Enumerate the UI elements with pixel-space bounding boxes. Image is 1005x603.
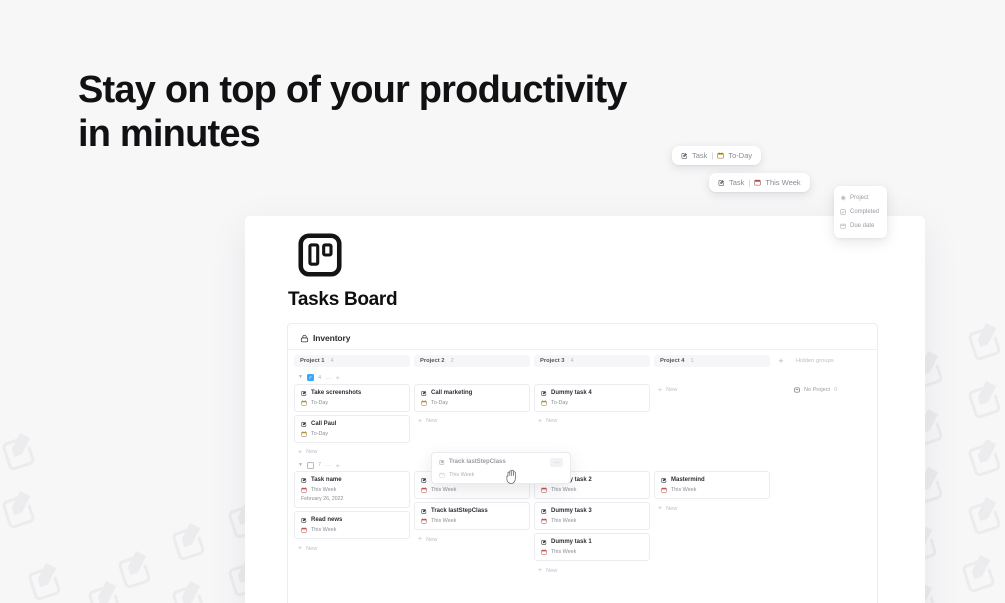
task-card-title: Read news <box>311 517 342 523</box>
task-card-due-label: This Week <box>551 549 576 555</box>
task-card-title: Dummy task 3 <box>551 508 592 514</box>
group-add-button[interactable]: + <box>336 462 340 470</box>
add-card-label: New <box>546 568 557 574</box>
column-header-project-1[interactable]: Project 1 4 <box>294 355 410 367</box>
task-card-due-label: To-Day <box>431 400 448 406</box>
task-card-title: Dummy task 1 <box>551 539 592 545</box>
task-icon <box>541 390 547 396</box>
task-icon <box>541 508 547 514</box>
collapse-triangle-icon[interactable]: ▼ <box>298 375 303 380</box>
task-card-meta: This Week <box>661 487 763 493</box>
task-card-meta: To-Day <box>421 400 523 406</box>
rail-item-no-project[interactable]: No Project0 <box>778 384 871 393</box>
task-card-title: Call Paul <box>311 421 336 427</box>
dragged-card-meta: This Week <box>449 472 474 478</box>
task-edit-icon <box>681 152 688 159</box>
calendar-week-icon <box>301 527 307 533</box>
group-row[interactable]: ▼✓4...+ <box>288 371 877 384</box>
add-card-button[interactable]: +New <box>534 415 650 428</box>
add-column-button[interactable]: + <box>774 357 788 366</box>
column-name: Project 1 <box>300 358 325 364</box>
task-card[interactable]: Call PaulTo-Day <box>294 415 410 443</box>
task-card-due-label: To-Day <box>311 400 328 406</box>
column-count: 2 <box>451 358 454 364</box>
task-icon <box>541 539 547 545</box>
task-card-title-row: Take screenshots <box>301 390 403 396</box>
task-card-due-label: This Week <box>431 487 456 493</box>
plus-icon: + <box>298 545 302 552</box>
column-header-project-3[interactable]: Project 3 4 <box>534 355 650 367</box>
column-name: Project 3 <box>540 358 565 364</box>
task-card[interactable]: Track lastStepClassThis Week <box>414 502 530 530</box>
column-name: Project 4 <box>660 358 685 364</box>
watermark-note-icon <box>960 431 1005 485</box>
task-card-date: February 26, 2022 <box>301 496 403 502</box>
calendar-week-icon <box>661 487 667 493</box>
calendar-today-icon <box>301 400 307 406</box>
task-card[interactable]: Call marketingTo-Day <box>414 384 530 412</box>
watermark-note-icon <box>20 555 72 603</box>
gear-icon <box>840 195 846 201</box>
dragged-card-title: Track lastStepClass <box>449 459 506 465</box>
collapse-triangle-icon[interactable]: ▼ <box>298 463 303 468</box>
floating-chip-today[interactable]: Task | To-Day <box>672 146 761 165</box>
group-menu-button[interactable]: ... <box>325 462 332 468</box>
calendar-icon <box>840 223 846 229</box>
chip-label: Task <box>729 178 744 187</box>
add-card-button[interactable]: +New <box>534 564 650 577</box>
task-card-title-row: Task name <box>301 477 403 483</box>
filter-dropdown-menu[interactable]: Project Completed Due date <box>834 186 887 238</box>
board-column: Dummy task 4To-Day+New <box>534 384 650 428</box>
plus-icon: + <box>538 567 542 574</box>
calendar-week-icon <box>439 472 445 478</box>
task-card-title-row: Call marketing <box>421 390 523 396</box>
board-header: Inventory <box>288 324 877 350</box>
chip-separator: | <box>748 178 750 187</box>
task-card-title: Mastermind <box>671 477 705 483</box>
task-icon <box>439 459 445 465</box>
task-card-title-row: Track lastStepClass <box>421 508 523 514</box>
column-name: Project 2 <box>420 358 445 364</box>
menu-item-label: Due date <box>850 223 874 229</box>
column-count: 4 <box>331 358 334 364</box>
board-title: Tasks Board <box>288 289 397 311</box>
task-card-due-label: This Week <box>551 518 576 524</box>
watermark-note-icon <box>960 489 1005 543</box>
menu-item-project[interactable]: Project <box>834 191 887 205</box>
watermark-note-icon <box>80 573 132 603</box>
plus-icon: + <box>538 418 542 425</box>
task-icon <box>421 477 427 483</box>
task-card-due-label: This Week <box>311 527 336 533</box>
task-card-title: Dummy task 4 <box>551 390 592 396</box>
watermark-note-icon <box>164 515 216 569</box>
add-card-button[interactable]: +New <box>414 415 530 428</box>
task-card-meta: This Week <box>301 487 403 493</box>
plus-icon: + <box>418 418 422 425</box>
task-card[interactable]: Dummy task 3This Week <box>534 502 650 530</box>
task-card-due-label: This Week <box>671 487 696 493</box>
task-card-due-label: This Week <box>311 487 336 493</box>
board-header-label: Inventory <box>313 333 350 343</box>
watermark-note-icon <box>960 315 1005 369</box>
task-card-title: Call marketing <box>431 390 472 396</box>
add-card-button[interactable]: +New <box>294 542 410 555</box>
watermark-note-icon <box>110 543 162 597</box>
watermark-note-icon <box>0 425 46 479</box>
board-column: Task nameThis WeekFebruary 26, 2022Read … <box>294 471 410 555</box>
chip-label: Task <box>692 151 707 160</box>
task-card-meta: To-Day <box>301 431 403 437</box>
group-row[interactable]: ▼7...+ <box>288 459 877 472</box>
task-card-meta: To-Day <box>301 400 403 406</box>
calendar-week-icon <box>541 518 547 524</box>
calendar-today-icon <box>717 152 724 159</box>
grab-hand-cursor <box>505 468 519 490</box>
add-card-button[interactable]: +New <box>414 533 530 546</box>
calendar-week-icon <box>301 487 307 493</box>
calendar-week-icon <box>421 487 427 493</box>
column-header-row: Project 1 4 Project 2 2 Project 3 4 Proj… <box>288 350 877 371</box>
group-count: 7 <box>318 462 321 468</box>
hidden-groups-rail: No Project0 <box>774 384 871 393</box>
task-icon <box>301 477 307 483</box>
app-window: Tasks Board Inventory Project 1 4 <box>245 216 925 603</box>
task-card[interactable]: Dummy task 1This Week <box>534 533 650 561</box>
floating-chip-this-week[interactable]: Task | This Week <box>709 173 810 192</box>
column-count: 4 <box>571 358 574 364</box>
add-card-label: New <box>546 418 557 424</box>
card-menu-button[interactable]: ... <box>550 458 563 467</box>
archive-icon <box>794 387 800 393</box>
group-count: 4 <box>318 375 321 381</box>
chip-separator: | <box>711 151 713 160</box>
task-card-title: Take screenshots <box>311 390 361 396</box>
task-icon <box>301 421 307 427</box>
task-card-title: Track lastStepClass <box>431 508 488 514</box>
task-card[interactable]: Take screenshotsTo-Day <box>294 384 410 412</box>
add-card-label: New <box>306 546 317 552</box>
add-card-button[interactable]: +New <box>654 384 770 397</box>
page-title: Stay on top of your productivity in minu… <box>78 68 638 157</box>
task-card-meta: This Week <box>541 487 643 493</box>
calendar-week-icon <box>541 549 547 555</box>
task-card-meta: To-Day <box>541 400 643 406</box>
add-card-button[interactable]: +New <box>654 502 770 515</box>
menu-item-completed[interactable]: Completed <box>834 205 887 219</box>
chip-when: This Week <box>765 178 800 187</box>
dragged-card[interactable]: Track lastStepClass ... This Week <box>431 452 571 484</box>
task-card-title-row: Read news <box>301 517 403 523</box>
rail-item-count: 0 <box>834 387 837 393</box>
add-card-label: New <box>426 418 437 424</box>
rail-item-label: No Project <box>804 387 830 393</box>
column-count: 1 <box>691 358 694 364</box>
calendar-today-icon <box>421 400 427 406</box>
menu-item-label: Completed <box>850 209 879 215</box>
plus-icon: + <box>298 449 302 456</box>
task-card-due-label: To-Day <box>551 400 568 406</box>
group-menu-button[interactable]: ... <box>325 375 332 381</box>
watermark-note-icon <box>0 483 46 537</box>
chip-when: To-Day <box>728 151 752 160</box>
group-checkbox-unchecked[interactable] <box>307 462 314 469</box>
task-edit-icon <box>718 179 725 186</box>
task-icon <box>421 508 427 514</box>
calendar-week-icon <box>421 518 427 524</box>
task-icon <box>661 477 667 483</box>
add-card-label: New <box>666 506 677 512</box>
lock-icon <box>300 334 309 343</box>
task-card-title-row: Call Paul <box>301 421 403 427</box>
board-column: Call marketingTo-Day+New <box>414 384 530 428</box>
hidden-groups-label: Hidden groups <box>792 358 871 364</box>
board-groups: ▼✓4...+Take screenshotsTo-DayCall PaulTo… <box>288 371 877 577</box>
task-card-title-row: Dummy task 3 <box>541 508 643 514</box>
add-card-label: New <box>426 537 437 543</box>
task-card-meta: This Week <box>541 518 643 524</box>
board-column: Dummy task 2This WeekDummy task 3This We… <box>534 471 650 577</box>
calendar-today-icon <box>301 431 307 437</box>
group-columns: Task nameThis WeekFebruary 26, 2022Read … <box>288 471 877 577</box>
task-card-meta: This Week <box>421 518 523 524</box>
task-card-meta: This Week <box>301 527 403 533</box>
task-card-title-row: Dummy task 4 <box>541 390 643 396</box>
task-card[interactable]: Task nameThis WeekFebruary 26, 2022 <box>294 471 410 508</box>
calendar-week-icon <box>754 179 761 186</box>
task-card-due-label: This Week <box>551 487 576 493</box>
task-card[interactable]: Dummy task 4To-Day <box>534 384 650 412</box>
page-root: Stay on top of your productivity in minu… <box>0 0 1005 603</box>
task-icon <box>421 390 427 396</box>
task-card-title-row: Dummy task 1 <box>541 539 643 545</box>
checkbox-checked-icon <box>840 209 846 215</box>
group-add-button[interactable]: + <box>336 374 340 382</box>
watermark-note-icon <box>954 547 1005 601</box>
board-column: +New <box>654 384 770 397</box>
column-header-project-2[interactable]: Project 2 2 <box>414 355 530 367</box>
group-columns: Take screenshotsTo-DayCall PaulTo-Day+Ne… <box>288 384 877 459</box>
task-card-due-label: This Week <box>431 518 456 524</box>
add-card-label: New <box>666 387 677 393</box>
add-card-button[interactable]: +New <box>294 446 410 459</box>
add-card-label: New <box>306 449 317 455</box>
group-checkbox-checked[interactable]: ✓ <box>307 374 314 381</box>
task-icon <box>301 390 307 396</box>
menu-item-due-date[interactable]: Due date <box>834 219 887 233</box>
task-card-title: Task name <box>311 477 342 483</box>
task-icon <box>301 517 307 523</box>
watermark-note-icon <box>960 373 1005 427</box>
board-panel: Inventory Project 1 4 Project 2 2 Projec… <box>287 323 878 603</box>
column-header-project-4[interactable]: Project 4 1 <box>654 355 770 367</box>
trello-logo-icon <box>298 233 342 282</box>
task-card-title-row: Mastermind <box>661 477 763 483</box>
plus-icon: + <box>658 387 662 394</box>
watermark-note-icon <box>164 573 216 603</box>
plus-icon: + <box>418 536 422 543</box>
calendar-week-icon <box>541 487 547 493</box>
task-card[interactable]: Read newsThis Week <box>294 511 410 539</box>
task-card-meta: This Week <box>541 549 643 555</box>
board-column: MastermindThis Week+New <box>654 471 770 515</box>
calendar-today-icon <box>541 400 547 406</box>
menu-item-label: Project <box>850 195 869 201</box>
task-card[interactable]: MastermindThis Week <box>654 471 770 499</box>
plus-icon: + <box>658 505 662 512</box>
board-column: Take screenshotsTo-DayCall PaulTo-Day+Ne… <box>294 384 410 459</box>
task-card-due-label: To-Day <box>311 431 328 437</box>
